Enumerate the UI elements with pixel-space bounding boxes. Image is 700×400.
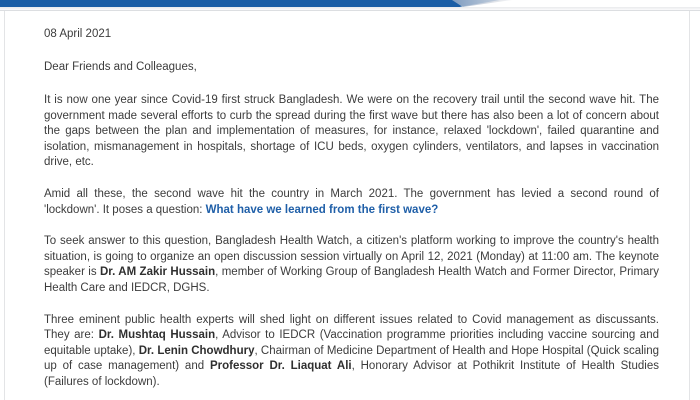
letter-salutation: Dear Friends and Colleagues, — [44, 60, 659, 75]
letter-date: 08 April 2021 — [44, 27, 659, 42]
document-page: 08 April 2021 Dear Friends and Colleague… — [0, 0, 700, 400]
paragraph-intro-text: It is now one year since Covid-19 first … — [44, 94, 659, 168]
keynote-speaker-name: Dr. AM Zakir Hussain — [100, 266, 215, 278]
paragraph-discussants: Three eminent public health experts will… — [44, 313, 659, 391]
paragraph-intro: It is now one year since Covid-19 first … — [44, 93, 659, 171]
discussant-name-2: Dr. Lenin Chowdhury — [139, 345, 255, 357]
letter-content: 08 April 2021 Dear Friends and Colleague… — [5, 11, 689, 400]
paragraph-session-details: To seek answer to this question, Banglad… — [44, 234, 659, 296]
paragraph-second-wave: Amid all these, the second wave hit the … — [44, 187, 659, 218]
letter-sheet: 08 April 2021 Dear Friends and Colleague… — [4, 11, 690, 400]
highlighted-question: What have we learned from the first wave… — [206, 204, 439, 216]
discussant-name-3: Professor Dr. Liaquat Ali — [210, 360, 352, 372]
discussant-name-1: Dr. Mushtaq Hussain — [99, 329, 216, 341]
